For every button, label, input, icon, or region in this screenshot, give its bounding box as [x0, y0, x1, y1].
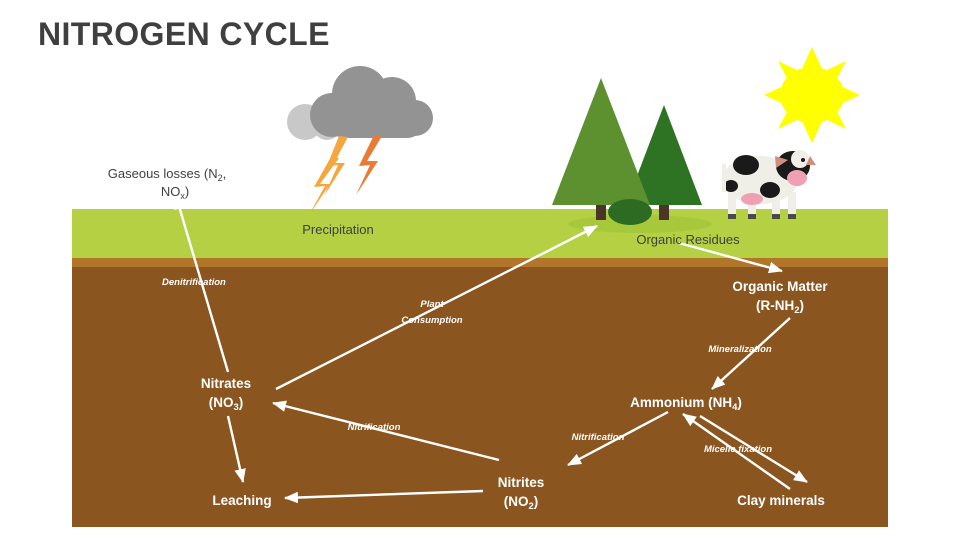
label-gaseous-losses-line2: NOx) [161, 184, 189, 201]
label-organic-residues: Organic Residues [636, 232, 740, 247]
label-gaseous-losses: Gaseous losses (N2, [108, 166, 226, 183]
bush-icon [608, 199, 652, 225]
pine-tree-icon [552, 78, 702, 225]
label-mineralization: Mineralization [708, 344, 772, 355]
label-leaching: Leaching [212, 493, 271, 508]
label-clay-minerals: Clay minerals [737, 493, 825, 508]
grass-band [72, 209, 888, 258]
label-denitrification: Denitrification [162, 277, 226, 288]
label-nitrification-right: Nitrification [572, 432, 625, 443]
rain-cloud-icon [287, 66, 433, 140]
diagram-canvas: Gaseous losses (N2, NOx) Precipitation O… [0, 0, 960, 540]
label-micelle-fixation: Micelle fixation [704, 444, 772, 455]
label-nitrification-left: Nitrification [348, 422, 401, 433]
label-plant-consumption-line1: Plant [420, 299, 444, 310]
sun-icon [764, 47, 860, 143]
cow-icon [722, 150, 816, 219]
label-organic-matter: Organic Matter [732, 279, 828, 294]
label-nitrites: Nitrites [498, 475, 545, 490]
label-plant-consumption-line2: Consumption [401, 315, 462, 326]
lightning-bolt-icon [309, 135, 382, 215]
label-precipitation: Precipitation [302, 222, 374, 237]
nitrogen-cycle-diagram: NITROGEN CYCLE [0, 0, 960, 540]
label-nitrates: Nitrates [201, 376, 251, 391]
